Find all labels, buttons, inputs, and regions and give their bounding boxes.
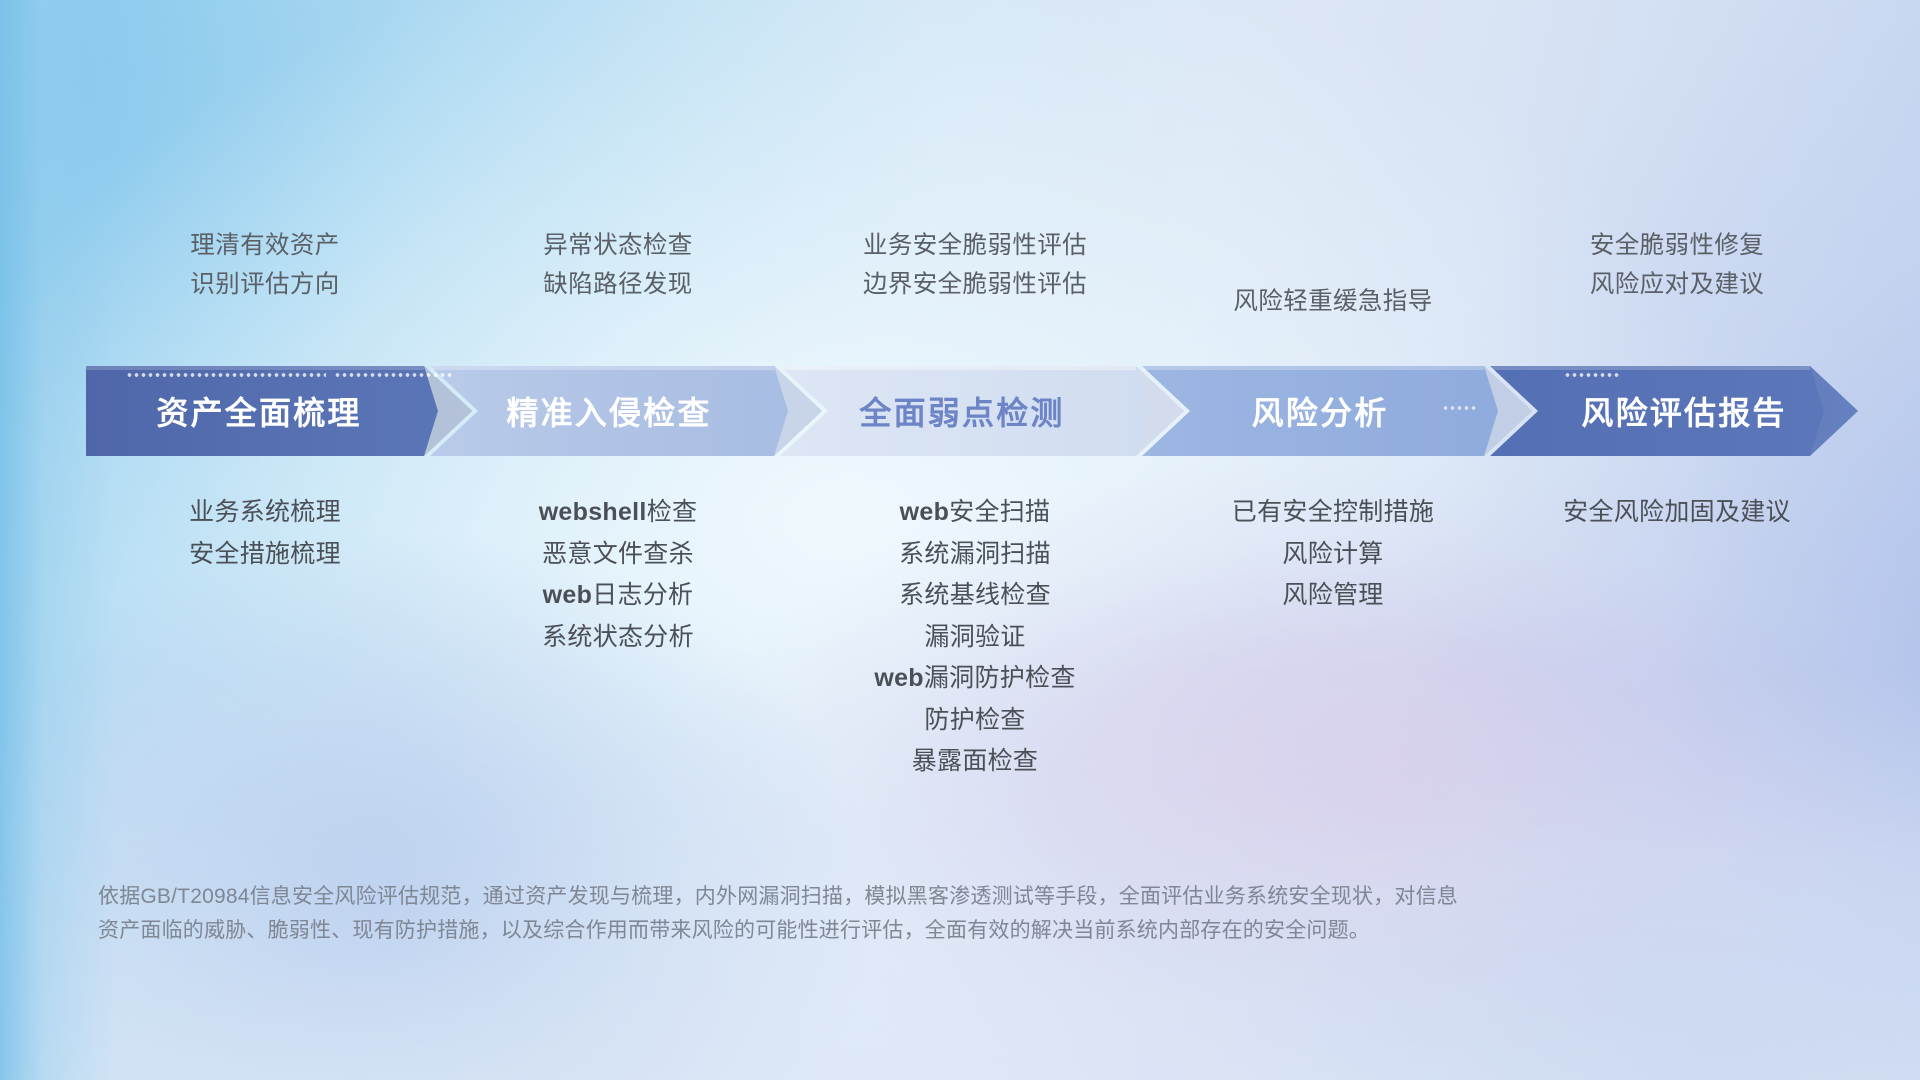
top-caption-row: 理清有效资产 识别评估方向 异常状态检查 缺陷路径发现 业务安全脆弱性评估 边界… [86,234,1846,344]
stage-label-4: 风险分析 [1142,388,1532,434]
list-item: web日志分析 [543,583,694,609]
detail-list-2: webshell检查 恶意文件查杀 web日志分析 系统状态分析 [444,500,792,775]
top-caption-group-4: 风险轻重缓急指导 [1158,234,1508,344]
top-caption-line: 边界安全脆弱性评估 [863,273,1087,298]
top-caption-line: 安全脆弱性修复 [1590,234,1764,259]
list-item: 漏洞验证 [924,625,1025,651]
stage-label-1: 资产全面梳理 [86,388,472,434]
stage-arrow-2[interactable]: 精准入侵检查 [430,366,822,456]
top-caption-line: 异常状态检查 [543,234,692,259]
list-item: 已有安全控制措施 [1232,500,1434,526]
stage-arrow-3[interactable]: 全面弱点检测 [780,366,1184,456]
detail-list-5: 安全风险加固及建议 [1508,500,1846,775]
bottom-detail-row: 业务系统梳理 安全措施梳理 webshell检查 恶意文件查杀 web日志分析 … [86,500,1858,775]
stage-arrow-5[interactable]: 风险评估报告 [1490,366,1858,456]
list-item: 系统状态分析 [542,625,694,651]
footer-line-1: 依据GB/T20984信息安全风险评估规范，通过资产发现与梳理，内外网漏洞扫描，… [98,880,1618,914]
process-arrow-band: 资产全面梳理 精准入侵检查 [86,366,1858,456]
list-item: 安全风险加固及建议 [1563,500,1791,526]
list-item: 风险计算 [1282,542,1383,568]
top-caption-group-1: 理清有效资产 识别评估方向 [86,234,444,344]
top-caption-line: 业务安全脆弱性评估 [863,234,1087,259]
slide-canvas: 理清有效资产 识别评估方向 异常状态检查 缺陷路径发现 业务安全脆弱性评估 边界… [0,0,1920,1080]
stage-label-5: 风险评估报告 [1490,388,1858,434]
top-caption-line: 风险轻重缓急指导 [1233,290,1432,315]
top-caption-line: 缺陷路径发现 [543,273,692,298]
footer-description: 依据GB/T20984信息安全风险评估规范，通过资产发现与梳理，内外网漏洞扫描，… [98,880,1618,948]
detail-list-3: web安全扫描 系统漏洞扫描 系统基线检查 漏洞验证 web漏洞防护检查 防护检… [792,500,1158,775]
list-item: web安全扫描 [900,500,1051,526]
top-caption-line: 理清有效资产 [190,234,339,259]
stage-arrow-1[interactable]: 资产全面梳理 [86,366,472,456]
top-caption-group-5: 安全脆弱性修复 风险应对及建议 [1508,234,1846,344]
footer-line-2: 资产面临的威胁、脆弱性、现有防护措施，以及综合作用而带来风险的可能性进行评估，全… [98,914,1618,948]
list-item: 系统基线检查 [899,583,1051,609]
list-item: 风险管理 [1282,583,1383,609]
stage-arrow-4[interactable]: 风险分析 [1142,366,1532,456]
top-caption-group-2: 异常状态检查 缺陷路径发现 [444,234,792,344]
top-caption-line: 风险应对及建议 [1590,273,1764,298]
list-item: 暴露面检查 [912,749,1039,775]
list-item: webshell检查 [539,500,698,526]
detail-list-4: 已有安全控制措施 风险计算 风险管理 [1158,500,1508,775]
list-item: 安全措施梳理 [189,542,341,568]
stage-label-3: 全面弱点检测 [780,388,1184,434]
list-item: 系统漏洞扫描 [899,542,1051,568]
list-item: 恶意文件查杀 [542,542,694,568]
detail-list-1: 业务系统梳理 安全措施梳理 [86,500,444,775]
top-caption-line: 识别评估方向 [190,273,339,298]
stage-label-2: 精准入侵检查 [430,388,822,434]
top-caption-group-3: 业务安全脆弱性评估 边界安全脆弱性评估 [792,234,1158,344]
list-item: 业务系统梳理 [189,500,341,526]
list-item: web漏洞防护检查 [874,666,1075,692]
list-item: 防护检查 [924,708,1025,734]
